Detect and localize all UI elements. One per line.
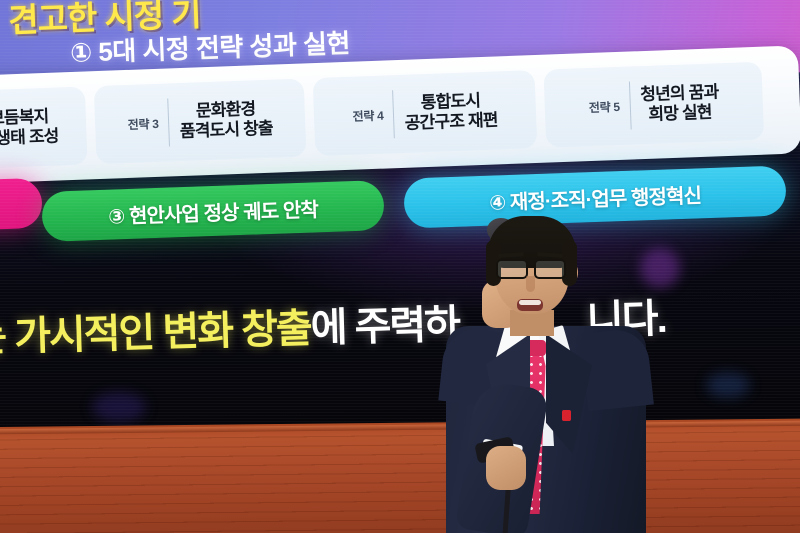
bokeh-light-3 xyxy=(92,392,146,422)
strategy-card: 전략 5 청년의 꿈과 희망 실현 xyxy=(543,62,764,148)
strategy-card-number: 전략 4 xyxy=(352,106,383,124)
eyeglasses-bridge xyxy=(527,265,535,268)
speaker-figure xyxy=(438,214,653,533)
strategy-card-line2: 복생태 조성 xyxy=(0,127,59,149)
strategy-card-text: 통합도시 공간구조 재편 xyxy=(404,91,498,133)
speaker-nose xyxy=(526,276,535,292)
speaker-teeth xyxy=(519,300,541,305)
strategy-card-line2: 품격도시 창출 xyxy=(180,119,274,141)
led-screen: 견고한 시정 기 ① 5대 시정 전략 성과 실현 전략 2 보듬복지 복생태 … xyxy=(0,0,800,437)
slide-pill-magenta xyxy=(0,178,43,233)
strategy-card-line1: 문화환경 xyxy=(196,100,256,121)
strategy-card: 전략 3 문화환경 품격도시 창출 xyxy=(94,78,307,164)
slide-pill-green: ③ 현안사업 정상 궤도 안착 xyxy=(41,180,385,242)
photo-stage: 견고한 시정 기 ① 5대 시정 전략 성과 실현 전략 2 보듬복지 복생태 … xyxy=(0,0,800,533)
strategy-card: 전략 2 보듬복지 복생태 조성 xyxy=(0,87,88,172)
eyeglasses-lens-left xyxy=(496,259,528,279)
strategy-card-line2: 희망 실현 xyxy=(648,103,712,124)
strategy-card-divider xyxy=(168,98,171,146)
strategy-card: 전략 4 통합도시 공간구조 재편 xyxy=(313,70,538,156)
strategy-card-number: 전략 3 xyxy=(127,114,158,132)
eyeglasses-lens-right xyxy=(534,259,566,279)
strategy-card-line1: 청년의 꿈과 xyxy=(640,83,719,105)
strategy-card-line1: 보듬복지 xyxy=(0,107,49,128)
bottom-sentence-lead-clip: 는 xyxy=(0,315,6,360)
strategy-card-divider xyxy=(393,90,396,138)
bottom-sentence-highlight: 가시적인 변화 창출 xyxy=(14,307,312,359)
strategy-card-text: 보듬복지 복생태 조성 xyxy=(0,107,59,149)
strategy-card-divider xyxy=(629,82,632,130)
strategy-card-line2: 공간구조 재편 xyxy=(404,110,498,132)
strategy-card-text: 문화환경 품격도시 창출 xyxy=(179,99,273,141)
strategy-card-line1: 통합도시 xyxy=(420,91,480,112)
bokeh-light-4 xyxy=(706,372,750,398)
strategy-card-text: 청년의 꿈과 희망 실현 xyxy=(640,83,720,125)
speaker-hand-lower xyxy=(486,446,526,490)
wood-panel-wall xyxy=(0,418,800,533)
speaker-lapel-pin xyxy=(562,410,571,421)
slide-bottom-sentence: 는 가시적인 변화 창출에 주력하니다. xyxy=(0,281,800,364)
strategy-card-number: 전략 5 xyxy=(589,97,620,115)
